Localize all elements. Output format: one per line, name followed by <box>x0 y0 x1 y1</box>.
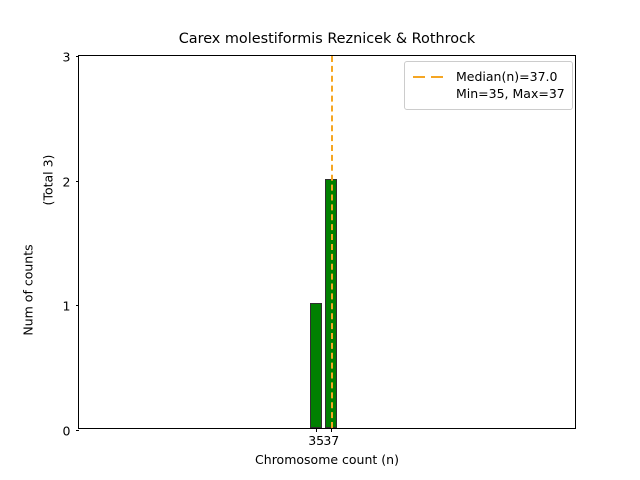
ytick-label-3: 3 <box>63 50 71 65</box>
plot-inner <box>79 56 575 428</box>
legend-entry-minmax: Min=35, Max=37 <box>413 85 564 102</box>
xtick-mark-37 <box>331 428 332 432</box>
matplotlib-figure: Carex molestiformis Reznicek & Rothrock … <box>0 0 640 480</box>
chart-title: Carex molestiformis Reznicek & Rothrock <box>78 31 576 48</box>
y-axis-label: Num of counts <box>21 244 36 335</box>
ytick-label-0: 0 <box>63 424 71 439</box>
x-axis-label: Chromosome count (n) <box>78 452 576 467</box>
xtick-label-35: 35 <box>308 433 324 448</box>
chart-legend: Median(n)=37.0 Min=35, Max=37 <box>404 61 573 110</box>
bar-35 <box>310 303 322 428</box>
legend-label-median: Median(n)=37.0 <box>456 69 557 84</box>
ytick-label-1: 1 <box>63 299 71 314</box>
legend-label-minmax: Min=35, Max=37 <box>456 86 565 101</box>
ytick-mark-1: 1 <box>76 305 80 306</box>
ytick-label-2: 2 <box>63 174 71 189</box>
ytick-mark-0: 0 <box>76 430 80 431</box>
ytick-mark-2: 2 <box>76 181 80 182</box>
ytick-mark-3: 3 <box>76 56 80 57</box>
median-line <box>331 56 333 428</box>
y-axis-label-total: (Total 3) <box>41 155 56 206</box>
legend-entry-median: Median(n)=37.0 <box>413 68 564 85</box>
plot-area: 0 1 2 3 35 37 Median(n)=37.0 Min=35, Max… <box>78 55 576 429</box>
dashed-line-icon <box>413 71 447 83</box>
xtick-label-37: 37 <box>323 433 339 448</box>
xtick-mark-35 <box>316 428 317 432</box>
